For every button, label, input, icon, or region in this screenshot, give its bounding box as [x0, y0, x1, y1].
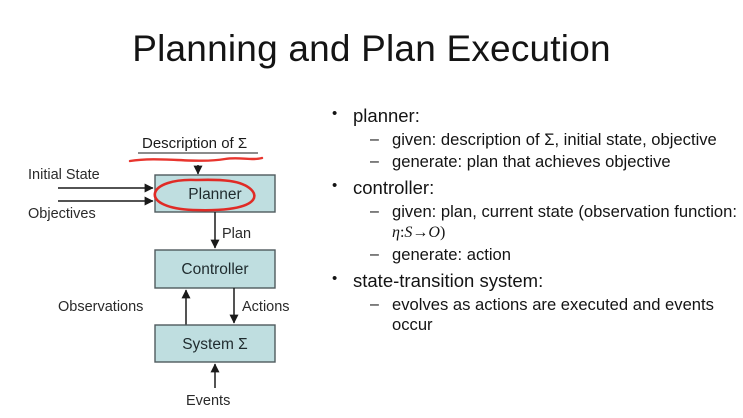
initial-state-label: Initial State — [28, 167, 100, 183]
subbullet-marker: – — [370, 152, 379, 171]
subbullet-controller-given-label: given: plan, current state (observation … — [392, 202, 737, 221]
bullet-list: • planner: – given: description of Σ, in… — [329, 104, 741, 335]
subbullet-planner-given-label: given: description of Σ, initial state, … — [392, 130, 717, 149]
observation-function-eta: η — [392, 224, 400, 241]
bullet-marker: • — [332, 175, 337, 197]
planning-architecture-diagram: Description of Σ Planner Initial State O… — [0, 120, 325, 418]
observations-label: Observations — [58, 299, 143, 315]
observation-function-codomain: O — [428, 224, 440, 241]
events-label: Events — [186, 393, 230, 409]
actions-label: Actions — [242, 299, 290, 315]
planner-box-label: Planner — [188, 186, 241, 203]
bullet-state-transition-system-label: state-transition system: — [353, 270, 543, 291]
bullet-controller-label: controller: — [353, 177, 434, 198]
subbullet-planner-generate: – generate: plan that achieves objective — [329, 152, 741, 172]
bullet-controller: • controller: — [329, 176, 741, 200]
subbullet-marker: – — [370, 245, 379, 264]
subbullet-marker: – — [370, 295, 379, 314]
subbullet-marker: – — [370, 202, 379, 221]
subbullet-planner-given: – given: description of Σ, initial state… — [329, 130, 741, 150]
subbullet-sts-evolves-label: evolves as actions are executed and even… — [392, 295, 714, 334]
bullet-planner: • planner: — [329, 104, 741, 128]
subbullet-planner-generate-label: generate: plan that achieves objective — [392, 152, 671, 171]
subbullet-controller-generate-label: generate: action — [392, 245, 511, 264]
system-box-label: System Σ — [182, 336, 248, 353]
red-underline-annotation — [130, 158, 262, 161]
objectives-label: Objectives — [28, 206, 96, 222]
bullet-planner-label: planner: — [353, 105, 420, 126]
page-title: Planning and Plan Execution — [0, 28, 743, 70]
bullet-marker: • — [332, 268, 337, 290]
plan-label: Plan — [222, 226, 251, 242]
subbullet-controller-given: – given: plan, current state (observatio… — [329, 202, 741, 242]
controller-box-label: Controller — [181, 261, 248, 278]
observation-function-arrow-icon: → — [412, 224, 428, 241]
subbullet-sts-evolves: – evolves as actions are executed and ev… — [329, 295, 741, 335]
bullet-marker: • — [332, 103, 337, 125]
subbullet-controller-generate: – generate: action — [329, 245, 741, 265]
bullet-state-transition-system: • state-transition system: — [329, 269, 741, 293]
subbullet-marker: – — [370, 130, 379, 149]
description-of-sigma-label: Description of Σ — [142, 135, 247, 152]
observation-function-close-paren: ) — [440, 224, 445, 241]
